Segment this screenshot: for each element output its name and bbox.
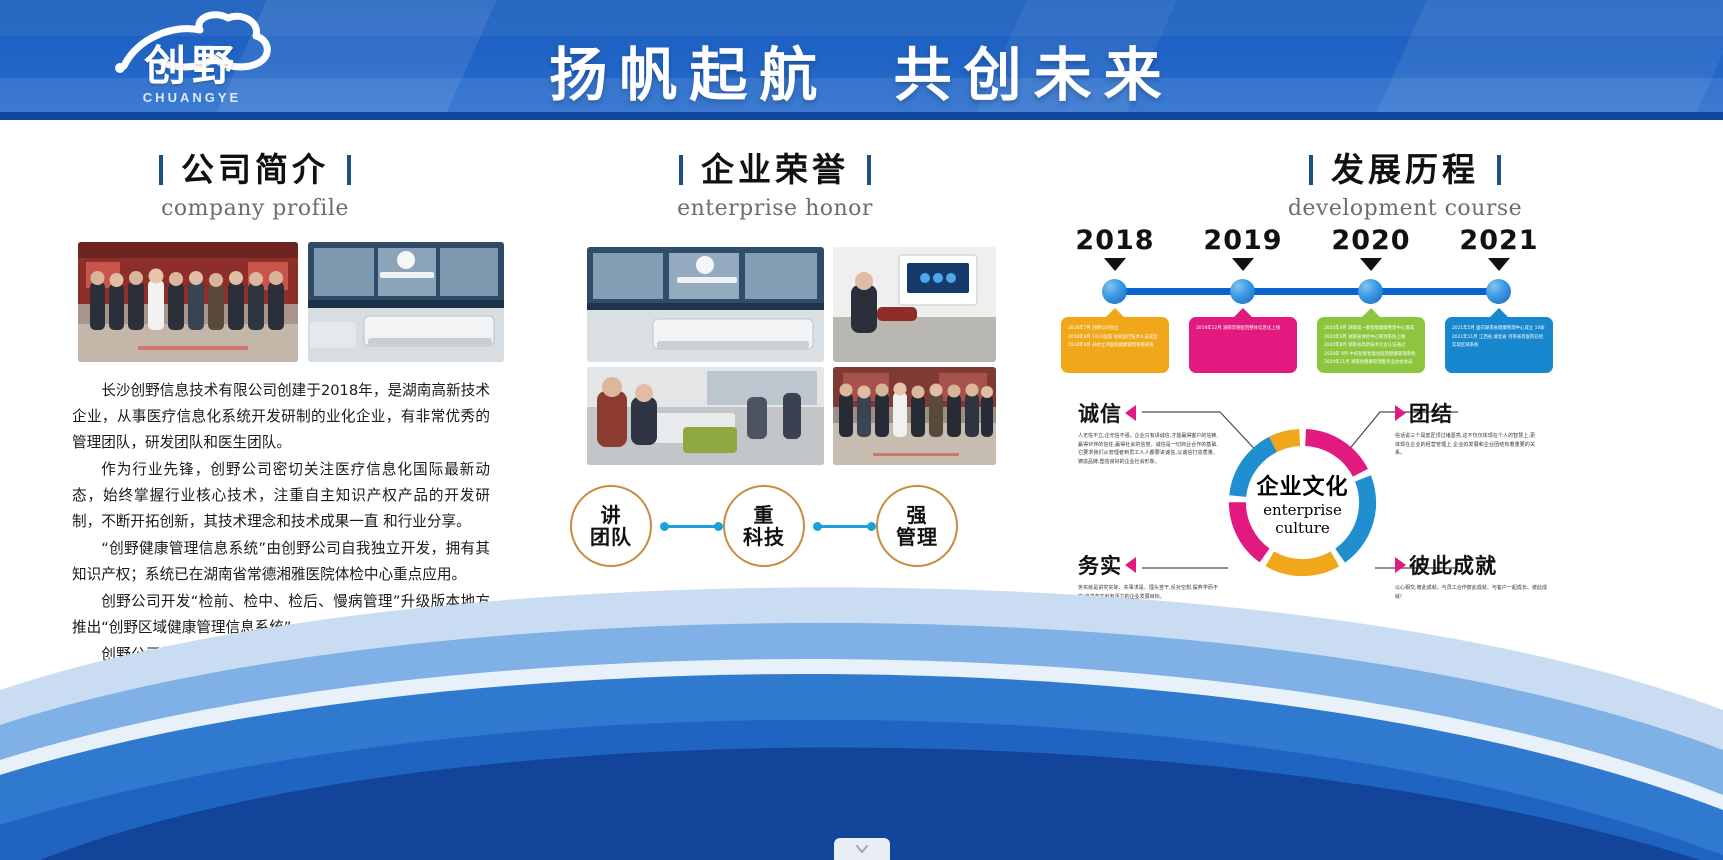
card-notch (1233, 308, 1253, 318)
culture-title: 团结 (1409, 398, 1453, 428)
timeline-event: 2020年8月 湖南省高新技术企业认证通过 (1324, 342, 1419, 351)
card-notch (1105, 308, 1125, 318)
keyword-circle-tech: 重科技 (723, 485, 805, 567)
timeline-event: 2021年5月 面向湖南省健康管理中心成立 10家 (1452, 325, 1547, 334)
profile-photo-team (78, 242, 298, 362)
section-heading-profile: 公司简介 company profile (15, 143, 495, 221)
timeline-year-2021: 2021 (1444, 225, 1554, 256)
culture-body: 俗话说三个臭皮匠顶过诸葛亮,这不仅仅体现在个人的智慧上,更体现在企业的经营管理上… (1395, 432, 1535, 458)
timeline-axis (1105, 288, 1507, 295)
culture-body: 人无信不立,企无信不强。企业只有讲诚信,才能赢得客户的信赖,赢得伙伴的信任,赢得… (1078, 432, 1218, 466)
timeline-caret-2021 (1488, 258, 1510, 271)
poster-canvas: 创野 CHUANGYE 扬帆起航 共创未来 公司简介 company profi… (0, 0, 1723, 860)
heading-bar-right (867, 155, 871, 185)
culture-center-en2: culture (1275, 519, 1330, 537)
heading-bar-left (159, 155, 163, 185)
timeline-event: 2020年6月 湖南省体检中心管理系统上线 (1324, 334, 1419, 343)
timeline-card-2018: 2018年7月 创野公司创立 2018年8月 1911医院 协同医疗技术人员成型… (1061, 317, 1169, 373)
timeline-event: 2021年11月 江西省 湖北省 河南省等医院已经实现区域系统 (1452, 334, 1547, 351)
culture-title: 诚信 (1078, 398, 1122, 428)
culture-center-label: 企业文化 enterprise culture (1225, 425, 1380, 580)
heading-bar-left (679, 155, 683, 185)
timeline-dot-2019 (1230, 279, 1255, 304)
honor-photo-4 (833, 367, 996, 465)
development-timeline: 2018 2019 2020 2021 2018年7月 创野公司创立 2018年… (1050, 225, 1550, 375)
keyword-connector-2 (817, 525, 872, 528)
section-title-cn: 公司简介 (181, 143, 329, 191)
keyword-circle-row: 讲团队 重科技 强管理 (560, 485, 980, 570)
keyword-line1: 讲 (601, 503, 622, 527)
timeline-dot-2018 (1102, 279, 1127, 304)
timeline-event: 2020年 9月 中间智能智能化医院健康管理系统 (1324, 351, 1419, 360)
timeline-card-2020: 2020年4月 湖南第一套智能健康管理中心落成 2020年6月 湖南省体检中心管… (1317, 317, 1425, 373)
chevron-down-icon (856, 845, 868, 853)
timeline-dot-2021 (1486, 279, 1511, 304)
keyword-line2: 管理 (896, 525, 938, 549)
section-title-cn: 发展历程 (1331, 143, 1479, 191)
culture-item-title-row: 诚信 (1078, 398, 1218, 428)
keyword-circle-team: 讲团队 (570, 485, 652, 567)
section-title-en: company profile (15, 196, 495, 221)
profile-paragraph: 长沙创野信息技术有限公司创建于2018年，是湖南高新技术企业，从事医疗信息化系统… (72, 378, 490, 456)
culture-center-cn: 企业文化 (1256, 469, 1348, 501)
section-heading-course: 发展历程 development course (1165, 143, 1645, 221)
arrow-left-icon (1125, 405, 1136, 421)
timeline-caret-2019 (1232, 258, 1254, 271)
scroll-down-tab[interactable] (834, 838, 890, 860)
keyword-line2: 团队 (590, 525, 632, 549)
keyword-circle-manage: 强管理 (876, 485, 958, 567)
timeline-year-2018: 2018 (1060, 225, 1170, 256)
header-underline (0, 112, 1723, 120)
honor-photo-3 (587, 367, 824, 465)
keyword-line1: 重 (754, 503, 775, 527)
timeline-event: 2018年8月 1911医院 协同医疗技术人员成型 (1068, 334, 1163, 343)
card-notch (1361, 308, 1381, 318)
footer-wave-decoration (0, 560, 1723, 860)
wave-svg (0, 560, 1723, 860)
timeline-year-2019: 2019 (1188, 225, 1298, 256)
timeline-card-2019: 2019年12月 湖南常德医院整体信息化上线 (1189, 317, 1297, 373)
timeline-caret-2018 (1104, 258, 1126, 271)
timeline-year-2020: 2020 (1316, 225, 1426, 256)
keyword-connector-1 (664, 525, 719, 528)
culture-center-en1: enterprise (1263, 501, 1342, 519)
banner-title: 扬帆起航 共创未来 (0, 28, 1723, 112)
timeline-event: 2019年12月 湖南常德医院整体信息化上线 (1196, 325, 1291, 334)
timeline-event: 2018年7月 创野公司创立 (1068, 325, 1163, 334)
honor-photo-1 (587, 247, 824, 362)
culture-item-integrity: 诚信 人无信不立,企无信不强。企业只有讲诚信,才能赢得客户的信赖,赢得伙伴的信任… (1078, 398, 1218, 466)
timeline-caret-2020 (1360, 258, 1382, 271)
section-title-en: development course (1165, 196, 1645, 221)
culture-item-title-row: 团结 (1395, 398, 1535, 428)
profile-paragraph: 作为行业先锋，创野公司密切关注医疗信息化国际最新动态，始终掌握行业核心技术，注重… (72, 457, 490, 535)
timeline-card-2021: 2021年5月 面向湖南省健康管理中心成立 10家 2021年11月 江西省 湖… (1445, 317, 1553, 373)
poster-header: 创野 CHUANGYE 扬帆起航 共创未来 (0, 0, 1723, 120)
timeline-event: 2018年9月 开始立项医院健康管理系统研发 (1068, 342, 1163, 351)
culture-item-unity: 团结 俗话说三个臭皮匠顶过诸葛亮,这不仅仅体现在个人的智慧上,更体现在企业的经营… (1395, 398, 1535, 458)
heading-bar-left (1309, 155, 1313, 185)
keyword-line1: 强 (907, 503, 928, 527)
keyword-line2: 科技 (743, 525, 785, 549)
section-title-cn: 企业荣誉 (701, 143, 849, 191)
timeline-event: 2020年11月 湖南省健康管理服务业协会会员 (1324, 359, 1419, 368)
card-notch (1489, 308, 1509, 318)
heading-bar-right (347, 155, 351, 185)
section-heading-honor: 企业荣誉 enterprise honor (535, 143, 1015, 221)
section-title-en: enterprise honor (535, 196, 1015, 221)
timeline-event: 2020年4月 湖南第一套智能健康管理中心落成 (1324, 325, 1419, 334)
timeline-dot-2020 (1358, 279, 1383, 304)
profile-photo-office (308, 242, 504, 362)
heading-bar-right (1497, 155, 1501, 185)
arrow-right-icon (1395, 405, 1406, 421)
honor-photo-2 (833, 247, 996, 362)
